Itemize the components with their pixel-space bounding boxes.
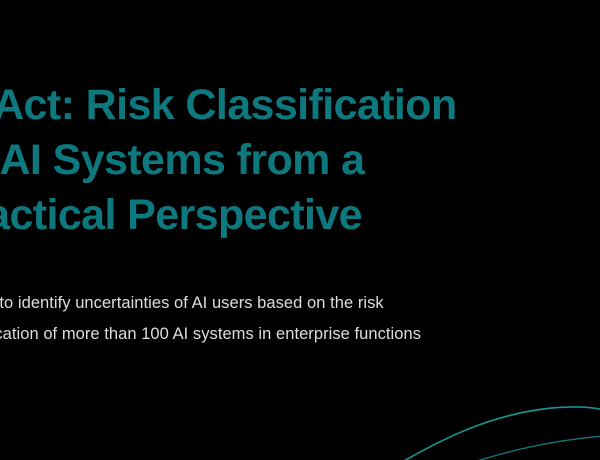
page-subtitle: udy to identify uncertainties of AI user… (0, 288, 600, 350)
title-line-3: ractical Perspective (0, 188, 600, 243)
page-title: I Act: Risk Classification f AI Systems … (0, 78, 600, 243)
subtitle-line-1: udy to identify uncertainties of AI user… (0, 288, 600, 319)
title-line-2: f AI Systems from a (0, 133, 600, 188)
primary-arc-icon (395, 407, 600, 460)
subtitle-line-2: sification of more than 100 AI systems i… (0, 319, 600, 350)
secondary-arc-icon (468, 436, 600, 460)
title-line-1: I Act: Risk Classification (0, 78, 600, 133)
title-slide: I Act: Risk Classification f AI Systems … (0, 0, 600, 460)
